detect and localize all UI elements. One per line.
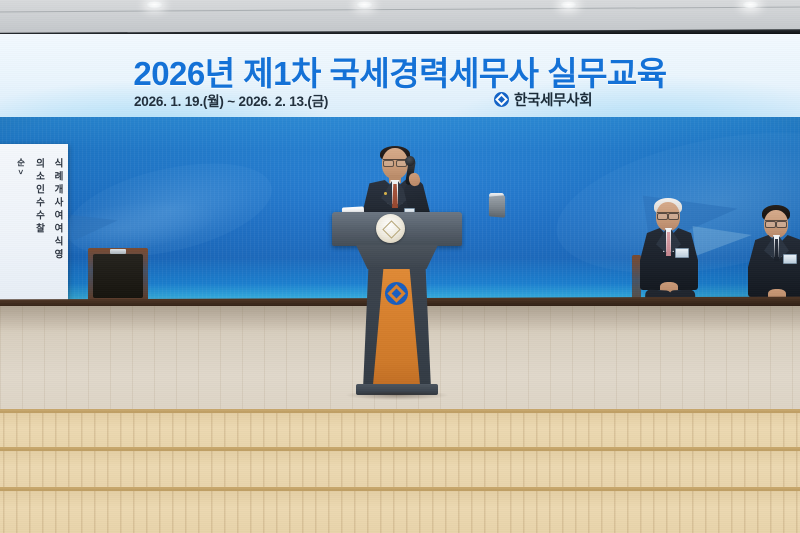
ceiling-downlight [356, 1, 373, 9]
ceiling-downlight [560, 1, 577, 9]
speaker-lapel-pin [384, 192, 387, 195]
ceiling-downlight [146, 1, 163, 9]
banner-title: 2026년 제1차 국세경력세무사 실무교육 [0, 47, 800, 95]
chair-back-pad [93, 254, 143, 298]
screen-text-column: 순> [17, 158, 26, 298]
chair-name-plate [110, 249, 126, 254]
conference-photo: 2026년 제1차 국세경력세무사 실무교육 2026. 1. 19.(월) ~… [0, 0, 800, 533]
ceiling-seam [0, 7, 800, 13]
banner-header-strip: 2026년 제1차 국세경력세무사 실무교육 2026. 1. 19.(월) ~… [0, 34, 800, 117]
wall-speaker-box [489, 195, 505, 217]
projection-screen-text: 식례개사여여식영 의소인수수찰 순> [0, 158, 68, 298]
screen-text-column: 의소인수수찰 [34, 158, 44, 298]
ceiling-downlight [742, 1, 759, 9]
kacpta-diamond-logo-icon [494, 92, 509, 107]
guest-name-badge [783, 254, 797, 264]
projection-screen: 식례개사여여식영 의소인수수찰 순> [0, 144, 68, 310]
podium-gold-seal-icon [376, 214, 405, 243]
screen-text-column: 식례개사여여식영 [53, 158, 63, 298]
podium-shadow [346, 392, 448, 400]
podium [332, 212, 462, 394]
speaker-glasses [383, 159, 407, 166]
guest-glasses [765, 220, 787, 227]
organization-name: 한국세무사회 [514, 89, 592, 110]
guest-name-badge [675, 248, 689, 258]
guest-glasses [657, 212, 679, 219]
stage-step [0, 451, 800, 491]
stage-step [0, 491, 800, 533]
banner-date-range: 2026. 1. 19.(월) ~ 2026. 2. 13.(금) [134, 90, 328, 110]
podium-neck [356, 245, 438, 269]
kacpta-diamond-logo-icon [385, 282, 408, 305]
banner-organization: 한국세무사회 [494, 89, 592, 110]
stage-step [0, 413, 800, 451]
